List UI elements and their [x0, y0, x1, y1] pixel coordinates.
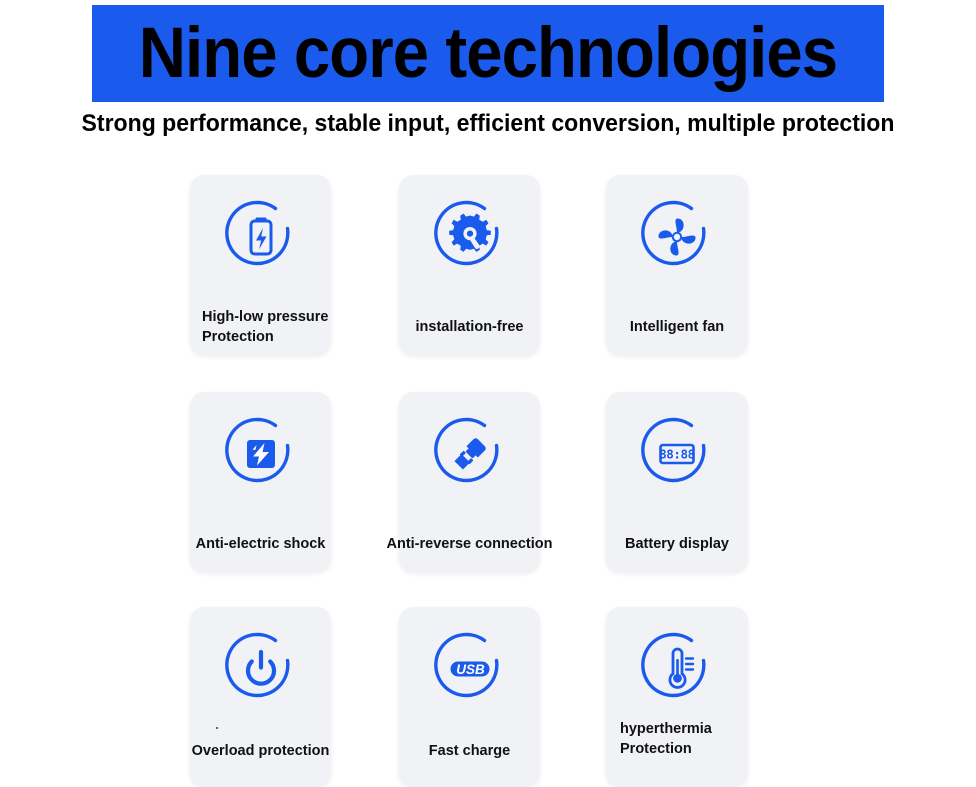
feature-card-label: Intelligent fan: [547, 317, 807, 337]
gear-wrench-ring-icon: [432, 199, 508, 275]
svg-text:USB: USB: [456, 662, 485, 677]
image-artifact-speck: [216, 727, 218, 729]
feature-card-label: Fast charge: [340, 741, 600, 761]
feature-card-overload-protection[interactable]: Overload protection: [190, 607, 331, 787]
usb-badge-ring-icon: USB: [432, 631, 508, 707]
feature-card-anti-electric-shock[interactable]: Anti-electric shock: [190, 392, 331, 572]
feature-card-fast-charge[interactable]: USB Fast charge: [399, 607, 540, 787]
feature-card-grid: High-low pressure Protection installatio…: [0, 0, 976, 770]
fan-ring-icon: [639, 199, 715, 275]
feature-card-high-low-pressure-protection[interactable]: High-low pressure Protection: [190, 175, 331, 355]
thermometer-ring-icon: [639, 631, 715, 707]
svg-text:88:88: 88:88: [659, 446, 695, 461]
feature-card-label: hyperthermia Protection: [620, 719, 762, 759]
power-button-ring-icon: [223, 631, 299, 707]
shock-square-ring-icon: [223, 416, 299, 492]
feature-card-label: High-low pressure Protection: [202, 307, 343, 347]
feature-card-installation-free[interactable]: installation-free: [399, 175, 540, 355]
battery-bolt-ring-icon: [223, 199, 299, 275]
feature-card-hyperthermia-protection[interactable]: hyperthermia Protection: [606, 607, 748, 787]
feature-card-intelligent-fan[interactable]: Intelligent fan: [606, 175, 748, 355]
lcd-display-ring-icon: 88:88: [639, 416, 715, 492]
feature-card-battery-display[interactable]: 88:88 Battery display: [606, 392, 748, 572]
plug-connector-ring-icon: [432, 416, 508, 492]
feature-card-label: Battery display: [547, 534, 807, 554]
feature-card-anti-reverse-connection[interactable]: Anti-reverse connection: [399, 392, 540, 572]
